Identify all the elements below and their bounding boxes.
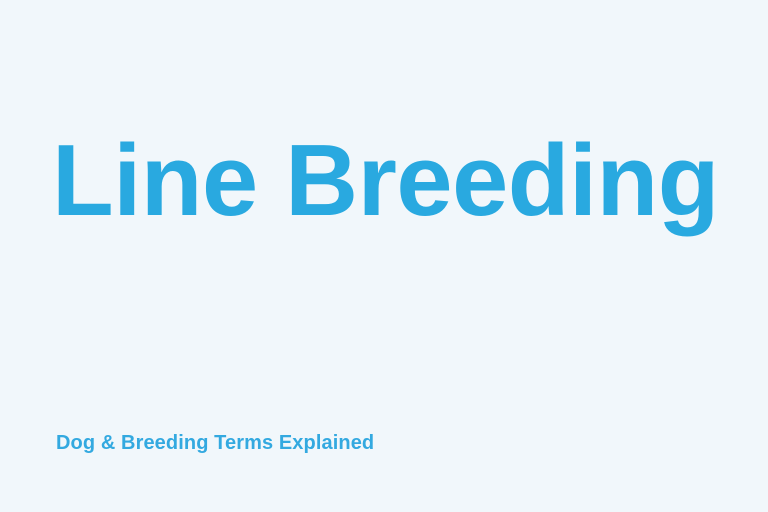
- page-title: Line Breeding: [52, 131, 719, 232]
- page-subtitle: Dog & Breeding Terms Explained: [56, 432, 374, 454]
- title-card: Line Breeding Dog & Breeding Terms Expla…: [0, 0, 768, 512]
- content-stack: Line Breeding Dog & Breeding Terms Expla…: [0, 0, 768, 512]
